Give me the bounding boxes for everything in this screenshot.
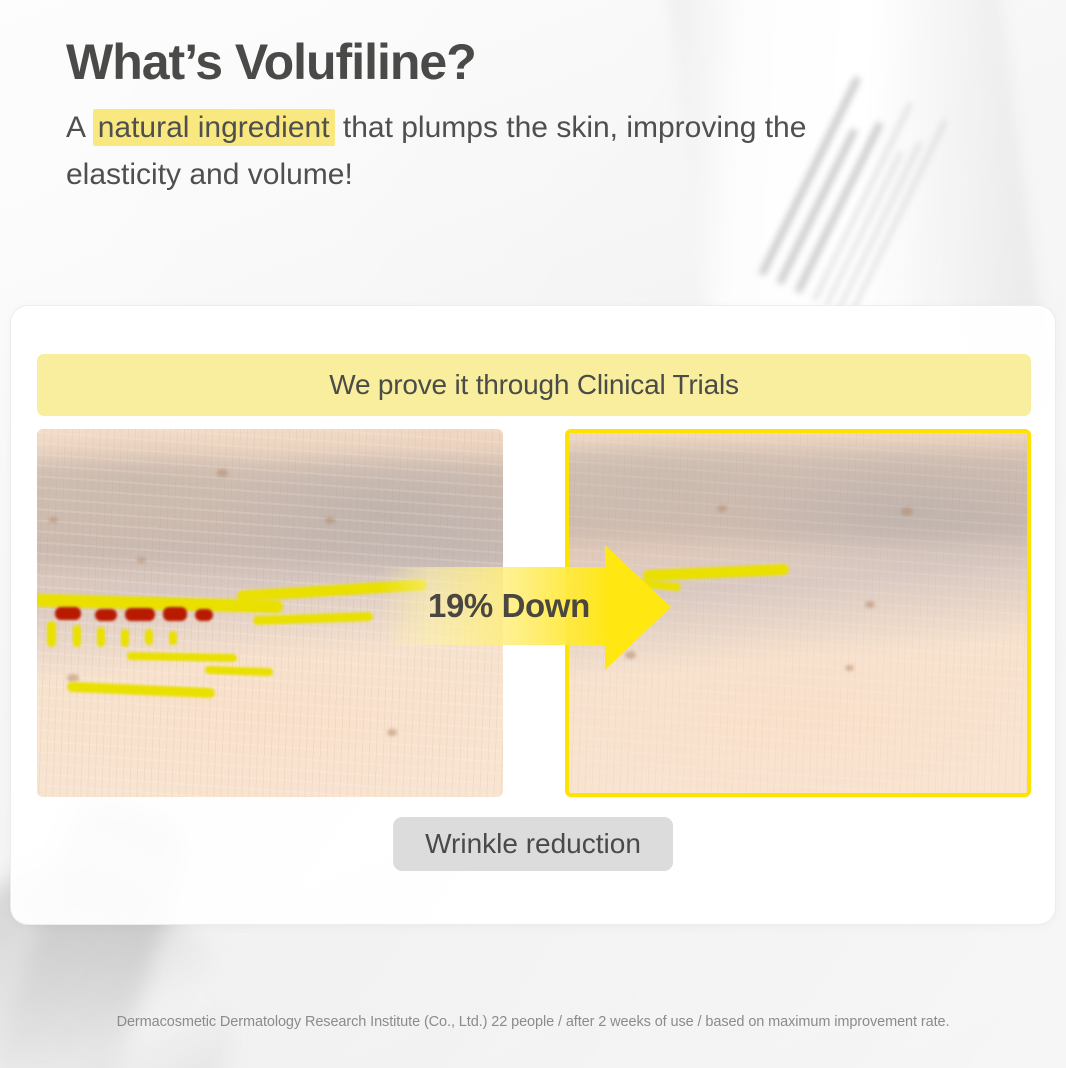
improvement-value-label: 19% Down: [428, 587, 590, 625]
wrinkle-highlight: [169, 631, 177, 645]
wrinkle-deep-marker: [195, 609, 213, 621]
skin-spot: [387, 729, 397, 736]
subtitle-prefix: A: [66, 111, 93, 144]
skin-spot: [845, 665, 854, 671]
wrinkle-reduction-chip: Wrinkle reduction: [393, 817, 673, 871]
bottle-cap-shape: [715, 0, 897, 19]
improvement-arrow: 19% Down: [380, 545, 670, 670]
wrinkle-highlight: [121, 629, 129, 647]
skin-spot: [137, 557, 146, 563]
skin-spot: [49, 517, 58, 523]
skin-spot: [67, 674, 79, 682]
wrinkle-reduction-label: Wrinkle reduction: [425, 828, 641, 859]
wrinkle-deep-marker: [55, 607, 81, 620]
wrinkle-highlight: [73, 625, 81, 647]
skin-spot: [217, 469, 228, 477]
promo-page: What’s Volufiline? A natural ingredient …: [0, 0, 1066, 1068]
study-footnote: Dermacosmetic Dermatology Research Insti…: [0, 1014, 1066, 1030]
arrow-head-icon: [605, 545, 671, 670]
skin-spot: [325, 517, 335, 524]
header: What’s Volufiline? A natural ingredient …: [66, 34, 826, 199]
skin-spot: [901, 507, 913, 516]
skin-spot: [717, 505, 727, 512]
wrinkle-highlight: [145, 629, 153, 645]
wrinkle-deep-marker: [95, 609, 117, 621]
clinical-trial-banner-text: We prove it through Clinical Trials: [329, 369, 739, 401]
page-title: What’s Volufiline?: [66, 34, 826, 90]
subtitle-highlight: natural ingredient: [93, 109, 335, 146]
wrinkle-highlight: [97, 627, 105, 647]
page-subtitle: A natural ingredient that plumps the ski…: [66, 104, 826, 199]
wrinkle-deep-marker: [163, 607, 187, 621]
skin-spot: [865, 601, 875, 608]
wrinkle-highlight: [47, 621, 56, 647]
clinical-trial-banner: We prove it through Clinical Trials: [37, 354, 1031, 416]
wrinkle-deep-marker: [125, 608, 155, 621]
